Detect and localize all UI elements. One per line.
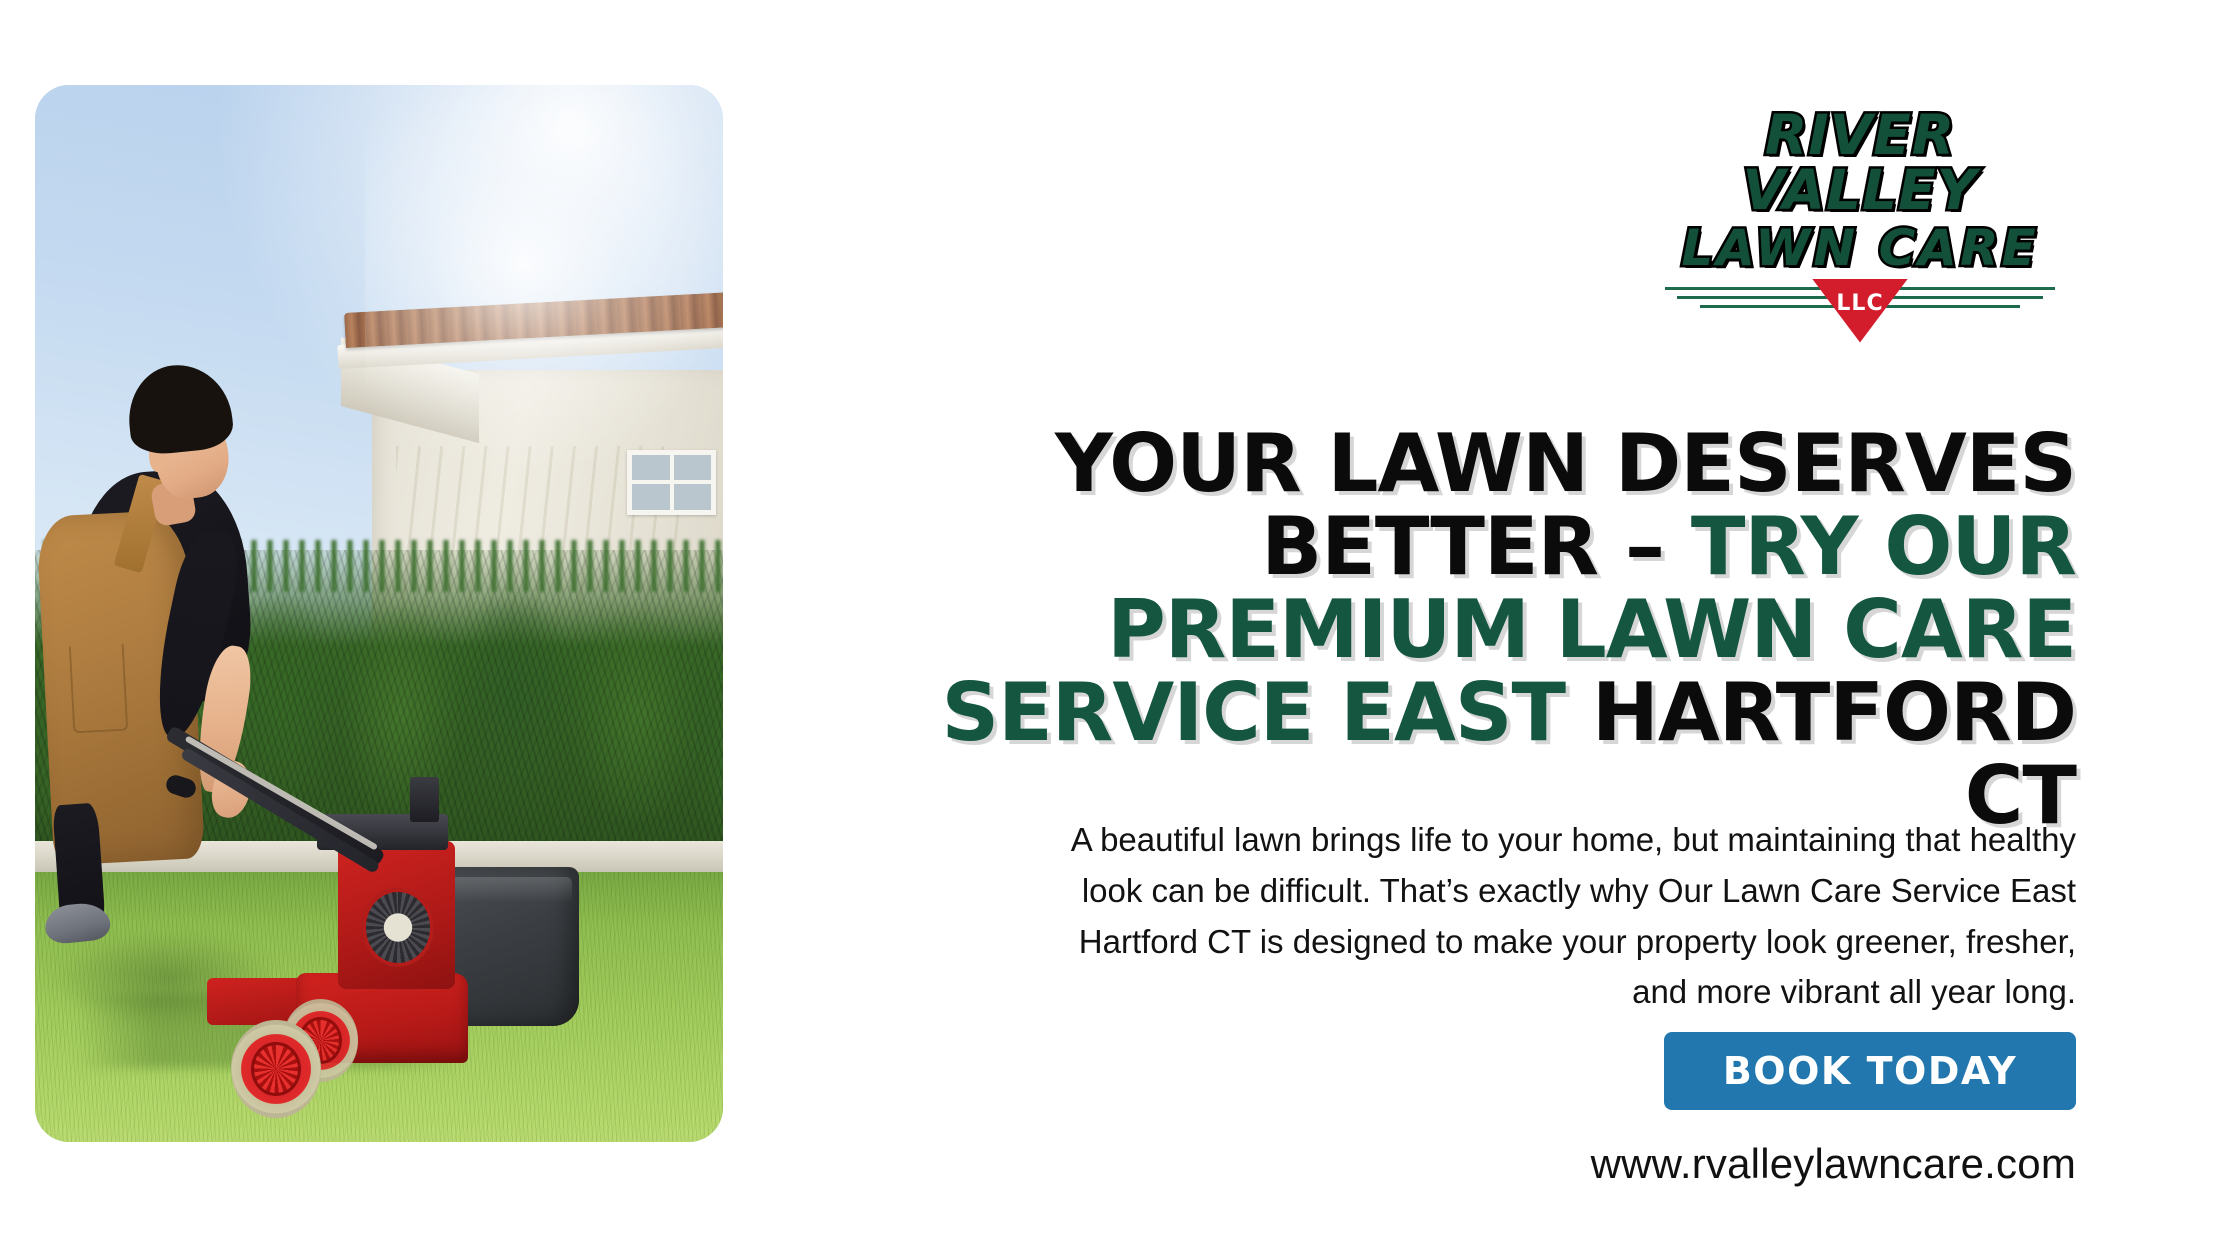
photo-scene xyxy=(35,85,723,1142)
website-url[interactable]: www.rvalleylawncare.com xyxy=(1591,1140,2076,1188)
logo-llc-text: LLC xyxy=(1836,291,1883,316)
hero-photo xyxy=(35,85,723,1142)
page-title: YOUR LAWN DESERVES BETTER – TRY OUR PREM… xyxy=(906,422,2076,838)
logo-llc-badge: LLC xyxy=(1812,279,1908,343)
content-panel: RIVER VALLEY LAWN CARE LLC YOUR LAWN DES… xyxy=(780,0,2180,1260)
mower-handle-bar-secondary xyxy=(180,746,381,873)
logo-line-two: LAWN CARE xyxy=(1645,222,2075,275)
logo-underline-group: LLC xyxy=(1645,285,2075,315)
mower-hand-grip xyxy=(164,773,199,800)
lawn-mower xyxy=(35,85,723,1142)
mower-front-wheel xyxy=(231,1020,320,1117)
logo-line-one: RIVER VALLEY xyxy=(1645,108,2075,218)
brand-logo: RIVER VALLEY LAWN CARE LLC xyxy=(1645,108,2075,315)
body-paragraph: A beautiful lawn brings life to your hom… xyxy=(1026,815,2076,1018)
mower-engine-fan xyxy=(362,888,434,966)
book-today-button[interactable]: BOOK TODAY xyxy=(1664,1032,2076,1110)
mower-throttle-cable xyxy=(185,735,379,851)
mower-exhaust-stack xyxy=(410,777,439,821)
